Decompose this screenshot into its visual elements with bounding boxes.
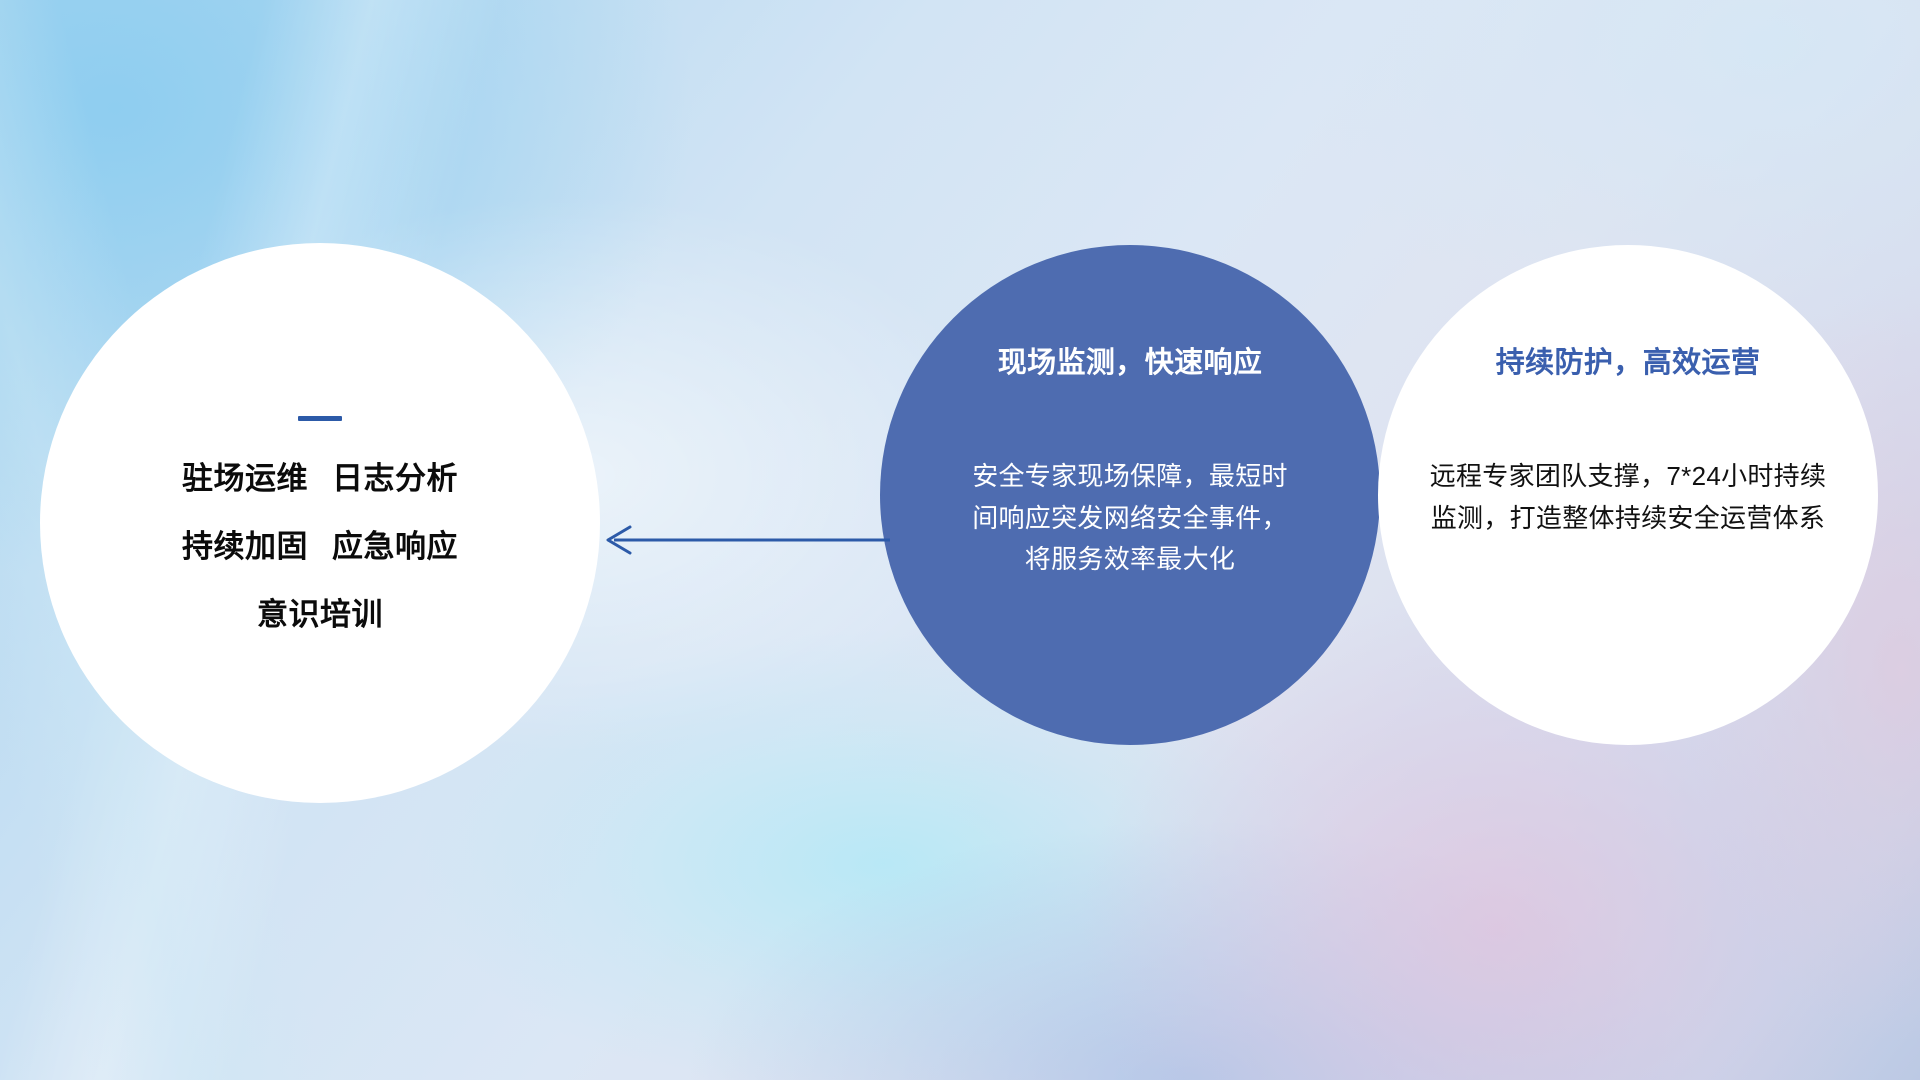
left-pointing-arrow-icon	[600, 518, 890, 562]
service-tag-list: 驻场运维 日志分析 持续加固 应急响应 意识培训	[182, 463, 458, 630]
right-circle-title: 持续防护，高效运营	[1496, 349, 1761, 378]
right-operations-circle[interactable]: 持续防护，高效运营 远程专家团队支撑，7*24小时持续监测，打造整体持续安全运营…	[1378, 245, 1878, 745]
middle-circle-body: 安全专家现场保障，最短时间响应突发网络安全事件，将服务效率最大化	[965, 456, 1295, 581]
service-tag[interactable]: 驻场运维	[182, 463, 308, 494]
service-tag[interactable]: 日志分析	[332, 463, 458, 494]
service-tag-row: 驻场运维 日志分析	[182, 463, 458, 494]
service-tag[interactable]: 意识培训	[257, 599, 383, 630]
middle-onsite-circle[interactable]: 现场监测，快速响应 安全专家现场保障，最短时间响应突发网络安全事件，将服务效率最…	[880, 245, 1380, 745]
middle-circle-title: 现场监测，快速响应	[998, 349, 1263, 378]
slide-canvas: 驻场运维 日志分析 持续加固 应急响应 意识培训 现场监测，快速响应 安全专家现…	[0, 0, 1920, 1080]
service-tag-row: 持续加固 应急响应	[182, 531, 458, 562]
service-tag-row: 意识培训	[257, 599, 383, 630]
right-circle-body: 远程专家团队支撑，7*24小时持续监测，打造整体持续安全运营体系	[1428, 456, 1828, 539]
service-tag[interactable]: 应急响应	[332, 531, 458, 562]
left-services-circle[interactable]: 驻场运维 日志分析 持续加固 应急响应 意识培训	[40, 243, 600, 803]
blue-dash-accent-icon	[298, 416, 342, 421]
service-tag[interactable]: 持续加固	[182, 531, 308, 562]
